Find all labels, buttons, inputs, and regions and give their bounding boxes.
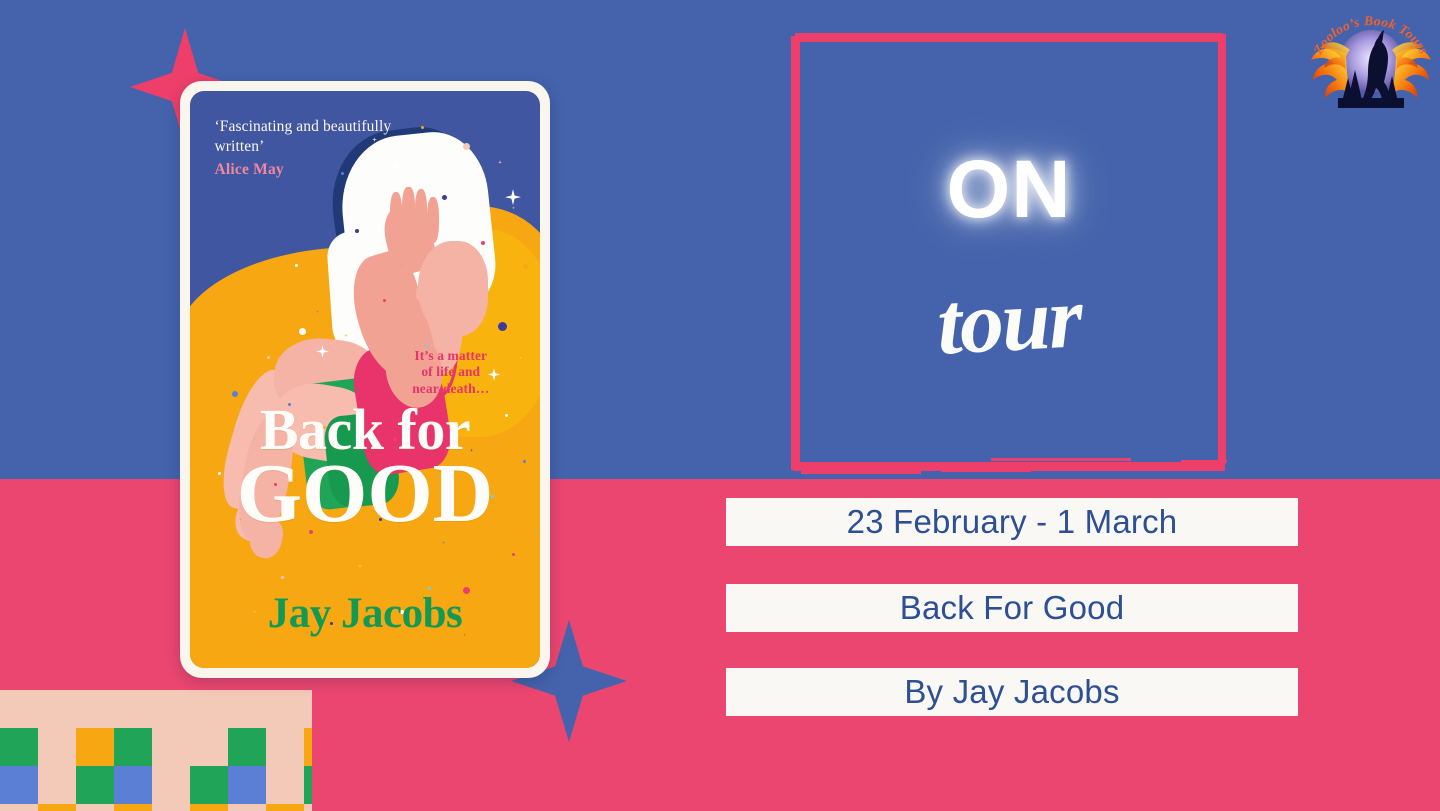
four-point-star-icon	[266, 804, 304, 811]
four-point-star-icon	[0, 804, 38, 811]
four-point-star-icon	[0, 690, 38, 728]
four-point-star-icon	[152, 766, 190, 804]
cover-figure-nose	[416, 279, 437, 303]
four-point-star-icon	[76, 804, 114, 811]
cover-tagline-line-1: It’s a matter	[414, 348, 487, 363]
cover-blurb-author: Alice May	[215, 160, 432, 180]
cover-dot-icon	[218, 299, 222, 303]
book-cover-artwork: ‘Fascinating and beautifully written’ Al…	[190, 91, 540, 668]
frame-brush-fragment	[801, 470, 921, 474]
four-point-star-icon	[152, 690, 190, 728]
info-bar-author-text: By Jay Jacobs	[904, 673, 1119, 711]
info-bar-dates-text: 23 February - 1 March	[847, 503, 1178, 541]
poster-canvas: ‘Fascinating and beautifully written’ Al…	[0, 0, 1440, 811]
cover-blurb-quote: ‘Fascinating and beautifully written’	[215, 118, 392, 155]
four-point-star-icon	[114, 766, 152, 804]
cover-dot-icon	[463, 143, 470, 150]
four-point-star-icon	[228, 728, 266, 766]
cover-title: Back for GOOD	[190, 403, 540, 533]
cover-tagline-line-2: of life and	[421, 364, 480, 379]
zooloos-book-tours-logo: Zooloo’s Book Tours	[1308, 4, 1434, 114]
four-point-star-icon	[38, 728, 76, 766]
book-cover: ‘Fascinating and beautifully written’ Al…	[180, 81, 550, 678]
four-point-star-icon	[228, 766, 266, 804]
cover-tagline-line-3: near-death…	[412, 381, 489, 396]
four-point-star-icon	[190, 766, 228, 804]
info-bar-title-text: Back For Good	[900, 589, 1125, 627]
frame-brush-fragment	[941, 469, 1031, 472]
cover-blurb: ‘Fascinating and beautifully written’ Al…	[215, 117, 432, 180]
four-point-star-icon	[38, 690, 76, 728]
four-point-star-icon	[304, 804, 312, 811]
four-point-star-icon	[0, 766, 38, 804]
four-point-star-icon	[266, 728, 304, 766]
on-tour-card: ON tour	[791, 33, 1227, 473]
cover-dot-icon	[281, 576, 284, 579]
cover-dot-icon	[383, 299, 386, 302]
four-point-star-icon	[0, 728, 38, 766]
four-point-star-icon	[38, 766, 76, 804]
cover-title-line-2: GOOD	[190, 455, 540, 533]
frame-brush-fragment	[991, 458, 1131, 461]
four-point-star-icon	[76, 728, 114, 766]
wolf-flame-logo-icon: Zooloo’s Book Tours	[1308, 4, 1434, 114]
tour-label: tour	[789, 260, 1230, 384]
four-point-star-icon	[304, 766, 312, 804]
four-point-star-icon	[76, 766, 114, 804]
cover-figure-finger	[427, 197, 440, 243]
frame-brush-fragment	[1181, 460, 1227, 462]
cover-dot-icon	[232, 391, 238, 397]
four-point-star-icon	[114, 728, 152, 766]
four-point-star-icon	[76, 690, 114, 728]
four-point-star-icon	[304, 728, 312, 766]
four-point-star-icon	[190, 728, 228, 766]
info-bar-title: Back For Good	[726, 584, 1298, 632]
cover-dot-icon	[498, 322, 507, 331]
cover-figure-finger	[415, 189, 428, 235]
cover-accent-circle	[278, 316, 289, 327]
frame-brush-fragment	[1046, 465, 1216, 468]
cover-sparkle-icon	[498, 160, 502, 164]
four-point-star-icon	[304, 690, 312, 728]
on-label: ON	[791, 143, 1227, 237]
info-bar-dates: 23 February - 1 March	[726, 498, 1298, 546]
four-point-star-icon	[114, 690, 152, 728]
cover-dot-icon	[481, 241, 485, 245]
info-bar-author: By Jay Jacobs	[726, 668, 1298, 716]
four-point-star-icon	[228, 804, 266, 811]
four-point-star-icon	[152, 804, 190, 811]
four-point-star-icon	[190, 804, 228, 811]
four-point-star-icon	[114, 804, 152, 811]
cover-author: Jay Jacobs	[190, 589, 540, 638]
four-point-star-icon	[266, 766, 304, 804]
cover-dot-icon	[523, 264, 528, 269]
cover-sparkle-icon	[512, 206, 515, 209]
four-point-star-icon	[38, 804, 76, 811]
cover-tagline: It’s a matter of life and near-death…	[381, 348, 521, 397]
cover-dot-icon	[442, 195, 447, 200]
cover-accent-circle	[299, 328, 306, 335]
four-point-star-icon	[152, 728, 190, 766]
four-point-star-icon	[190, 690, 228, 728]
cover-figure-finger	[390, 192, 403, 238]
four-point-star-icon	[266, 690, 304, 728]
cover-sparkle-large-icon	[505, 189, 521, 205]
star-grid-pattern	[0, 690, 312, 811]
cover-figure-finger	[402, 187, 415, 233]
frame-edge-top	[795, 33, 1223, 42]
four-point-star-icon	[228, 690, 266, 728]
cover-dot-icon	[512, 553, 515, 556]
